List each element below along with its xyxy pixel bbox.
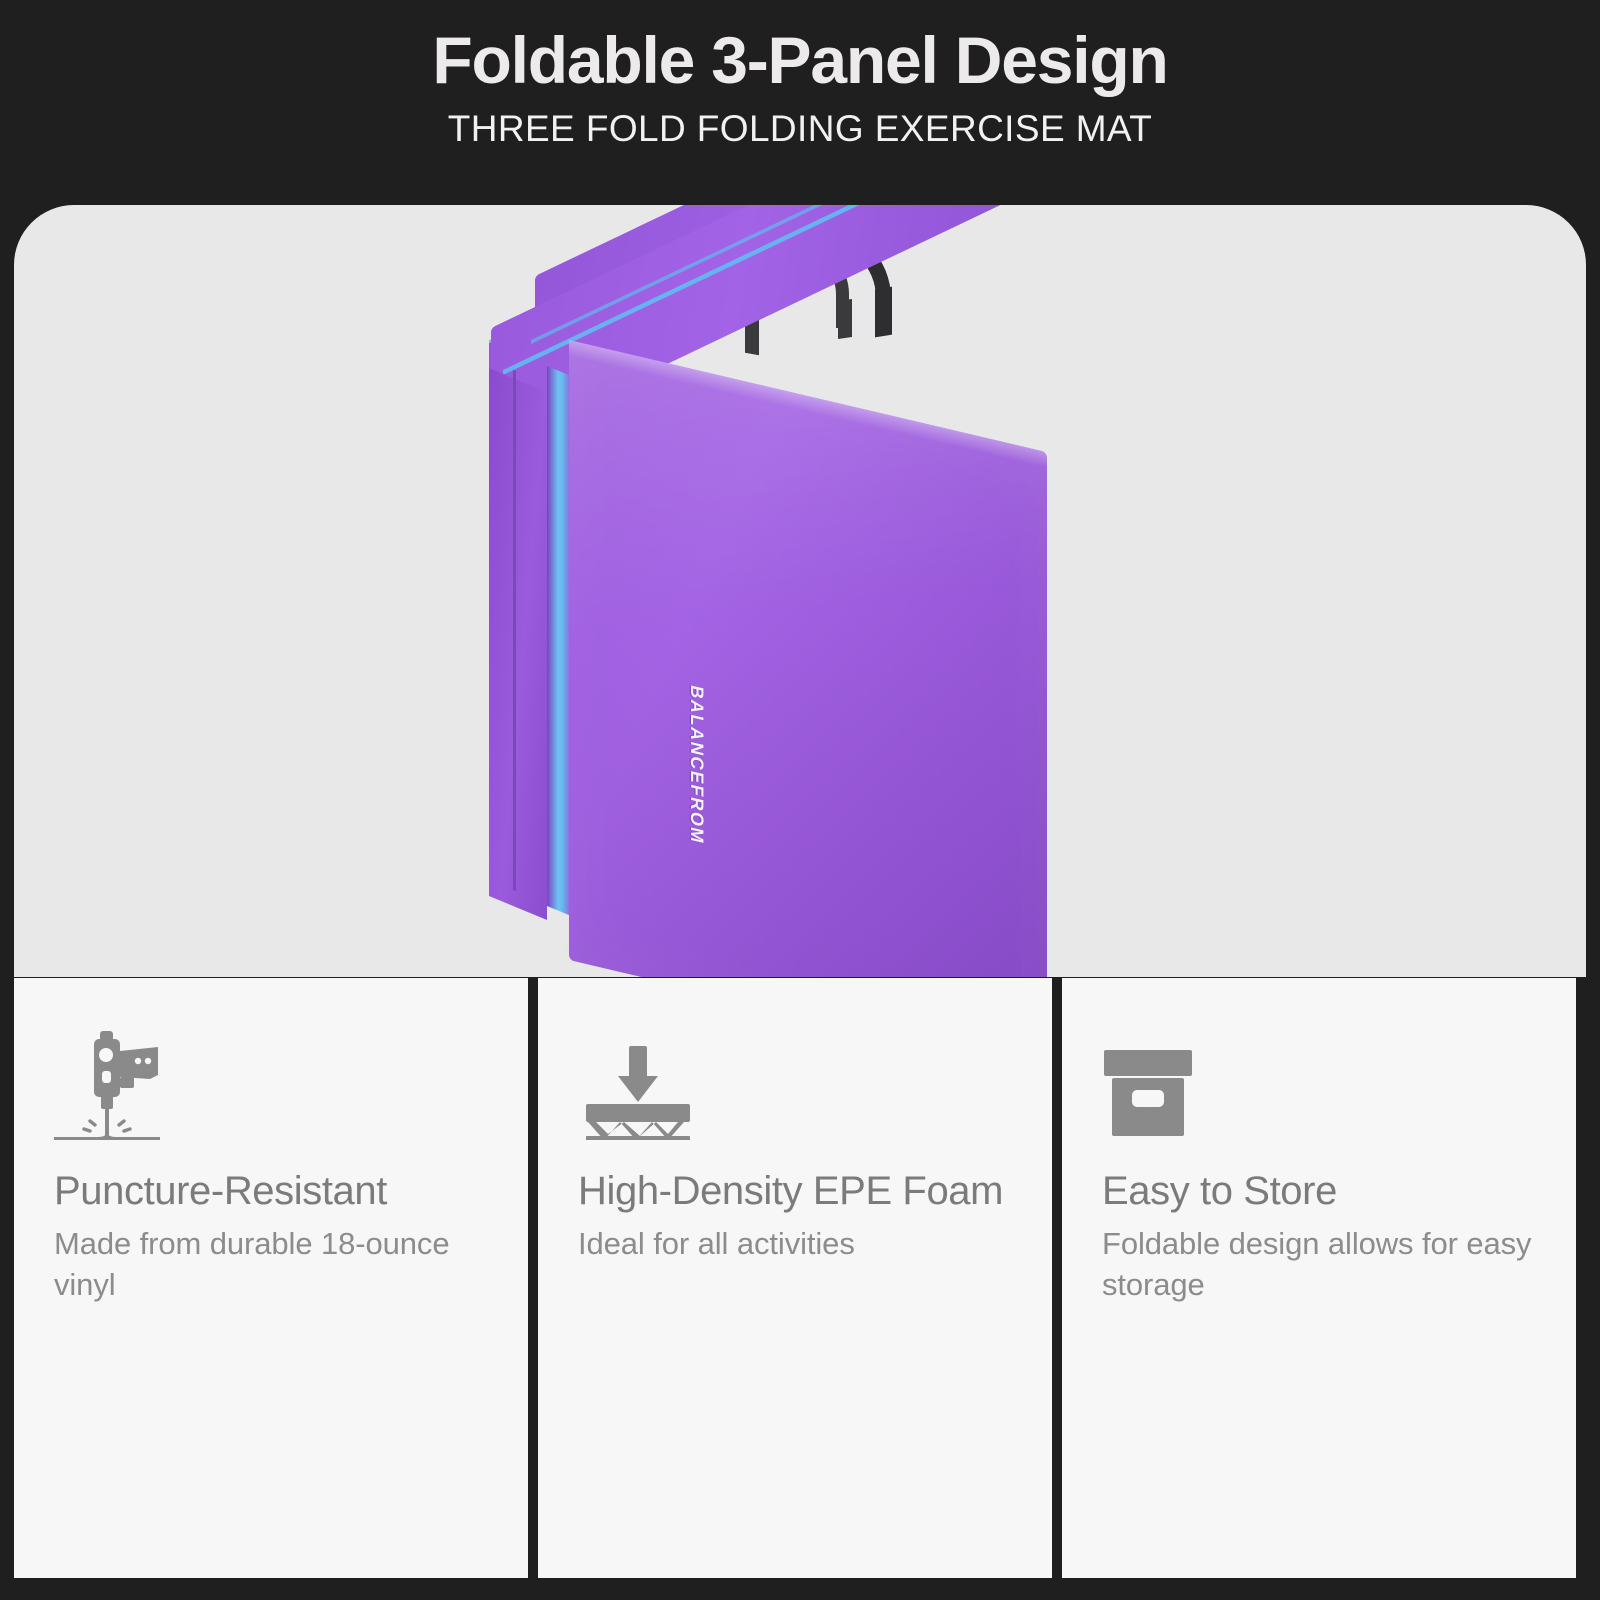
feature-title: High-Density EPE Foam — [578, 1166, 1012, 1217]
hero-product-panel: BALANCEFROM — [14, 205, 1586, 977]
mat-side-edge-panel — [489, 368, 547, 920]
feature-card-high-density-foam: High-Density EPE Foam Ideal for all acti… — [538, 978, 1052, 1578]
feature-card-puncture-resistant: Puncture-Resistant Made from durable 18-… — [14, 978, 528, 1578]
infographic-page: Foldable 3-Panel Design THREE FOLD FOLDI… — [0, 0, 1600, 1600]
storage-box-icon — [1102, 1044, 1194, 1140]
feature-cards-row: Puncture-Resistant Made from durable 18-… — [14, 978, 1586, 1578]
feature-icon-wrap — [578, 1020, 1012, 1140]
brand-logo-text: BALANCEFROM — [686, 683, 707, 846]
feature-icon-wrap — [1102, 1020, 1536, 1140]
drill-puncture-icon — [54, 1025, 164, 1140]
feature-title: Easy to Store — [1102, 1166, 1536, 1217]
feature-description: Ideal for all activities — [578, 1223, 1012, 1264]
feature-description: Foldable design allows for easy storage — [1102, 1223, 1536, 1305]
downward-pressure-foam-icon — [578, 1040, 698, 1140]
feature-description: Made from durable 18-ounce vinyl — [54, 1223, 488, 1305]
header-banner: Foldable 3-Panel Design THREE FOLD FOLDI… — [0, 0, 1600, 205]
feature-icon-wrap — [54, 1020, 488, 1140]
product-image-folded-mat: BALANCEFROM — [469, 220, 1089, 960]
feature-title: Puncture-Resistant — [54, 1166, 488, 1217]
feature-card-easy-to-store: Easy to Store Foldable design allows for… — [1062, 978, 1576, 1578]
mat-side-stitch — [513, 370, 516, 891]
page-title: Foldable 3-Panel Design — [432, 26, 1167, 95]
page-subtitle: THREE FOLD FOLDING EXERCISE MAT — [448, 109, 1153, 150]
